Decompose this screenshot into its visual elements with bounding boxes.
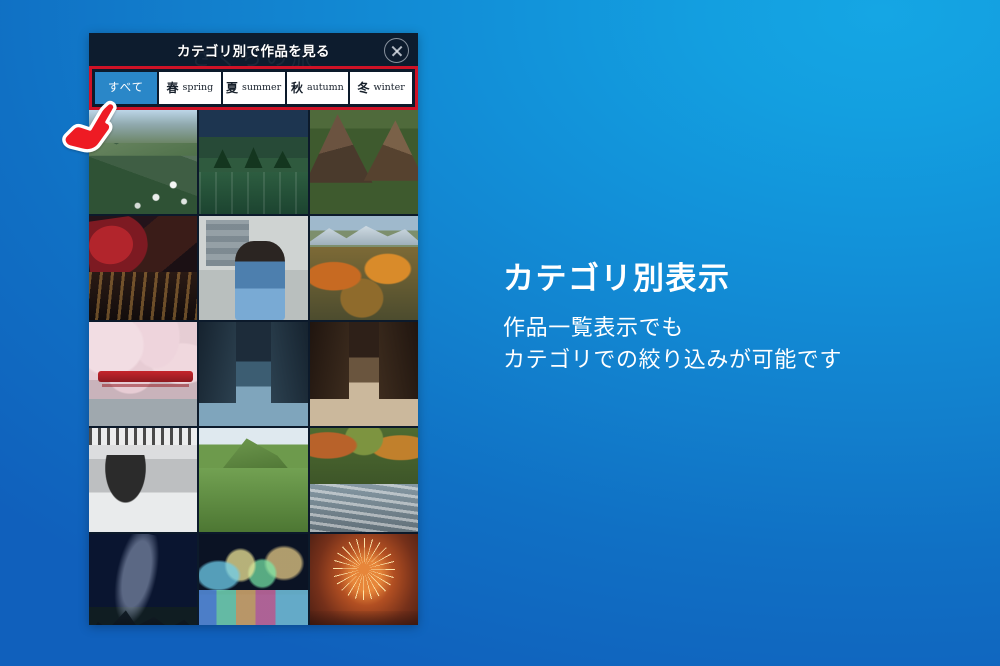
gallery-thumbnail <box>89 216 197 320</box>
gallery-item-monochrome-snow-rickshaw[interactable] <box>89 428 197 532</box>
tab-autumn[interactable]: 秋 autumn <box>287 72 349 104</box>
gallery-thumbnail <box>199 216 307 320</box>
gallery-item-cherry-blossom-red-bridge[interactable] <box>89 322 197 426</box>
tab-autumn-kanji: 秋 <box>291 82 303 94</box>
feature-copy-block: カテゴリ別表示 作品一覧表示でも カテゴリでの絞り込みが可能です <box>503 262 933 376</box>
category-tab-bar: すべて 春 spring 夏 summer 秋 autumn 冬 winter <box>95 72 412 104</box>
gallery-item-girl-in-yukata-with-mask[interactable] <box>199 216 307 320</box>
tab-winter[interactable]: 冬 winter <box>350 72 412 104</box>
gallery-thumbnail <box>89 428 197 532</box>
category-tabs-highlight: すべて 春 spring 夏 summer 秋 autumn 冬 winter <box>89 66 418 110</box>
gallery-item-winter-illumination-park[interactable] <box>199 534 307 625</box>
tab-spring-label: spring <box>183 83 214 93</box>
tab-winter-label: winter <box>373 83 404 93</box>
gallery-item-old-town-street-in-kimono[interactable] <box>199 322 307 426</box>
gallery-thumbnail <box>199 322 307 426</box>
gallery-thumbnail <box>310 322 418 426</box>
pointing-hand-cursor <box>60 98 120 154</box>
gallery-item-waterfall-in-autumn-forest[interactable] <box>310 428 418 532</box>
tab-spring-kanji: 春 <box>166 82 178 94</box>
gallery-thumbnail <box>199 534 307 625</box>
gallery-item-gassho-farmhouse-with-visitors[interactable] <box>310 110 418 214</box>
gallery-thumbnail <box>310 534 418 625</box>
tab-summer-label: summer <box>242 83 281 93</box>
close-icon[interactable] <box>384 38 409 63</box>
category-modal-panel: さくらの旅 カテゴリ別で作品を見る すべて 春 spring 夏 summer … <box>89 33 418 625</box>
feature-heading: カテゴリ別表示 <box>503 262 933 296</box>
gallery-item-autumn-valley-waterfall[interactable] <box>310 216 418 320</box>
gallery-item-fireworks-over-night-sky[interactable] <box>310 534 418 625</box>
photo-gallery-grid <box>89 110 418 625</box>
modal-title: カテゴリ別で作品を見る <box>177 40 330 60</box>
tab-summer[interactable]: 夏 summer <box>223 72 285 104</box>
gallery-item-snowy-old-town-street[interactable] <box>310 322 418 426</box>
gallery-item-red-lantern-festival-alley[interactable] <box>89 216 197 320</box>
feature-description-line-2: カテゴリでの絞り込みが可能です <box>503 344 933 376</box>
slide-canvas: さくらの旅 カテゴリ別で作品を見る すべて 春 spring 夏 summer … <box>0 0 1000 666</box>
gallery-thumbnail <box>310 216 418 320</box>
gallery-thumbnail <box>89 534 197 625</box>
tab-winter-kanji: 冬 <box>357 82 369 94</box>
tab-summer-kanji: 夏 <box>226 82 238 94</box>
tab-autumn-label: autumn <box>307 83 344 93</box>
gallery-thumbnail <box>310 110 418 214</box>
tab-spring[interactable]: 春 spring <box>159 72 221 104</box>
gallery-item-milky-way-over-rocks[interactable] <box>89 534 197 625</box>
tab-all-label: すべて <box>108 82 144 94</box>
gallery-thumbnail <box>199 428 307 532</box>
gallery-item-green-hill-walking-path[interactable] <box>199 428 307 532</box>
gallery-thumbnail <box>310 428 418 532</box>
gallery-item-gassho-village-lit-at-dusk[interactable] <box>199 110 307 214</box>
gallery-thumbnail <box>89 322 197 426</box>
modal-header: さくらの旅 カテゴリ別で作品を見る <box>89 33 418 66</box>
feature-description-line-1: 作品一覧表示でも <box>503 312 933 344</box>
gallery-thumbnail <box>199 110 307 214</box>
